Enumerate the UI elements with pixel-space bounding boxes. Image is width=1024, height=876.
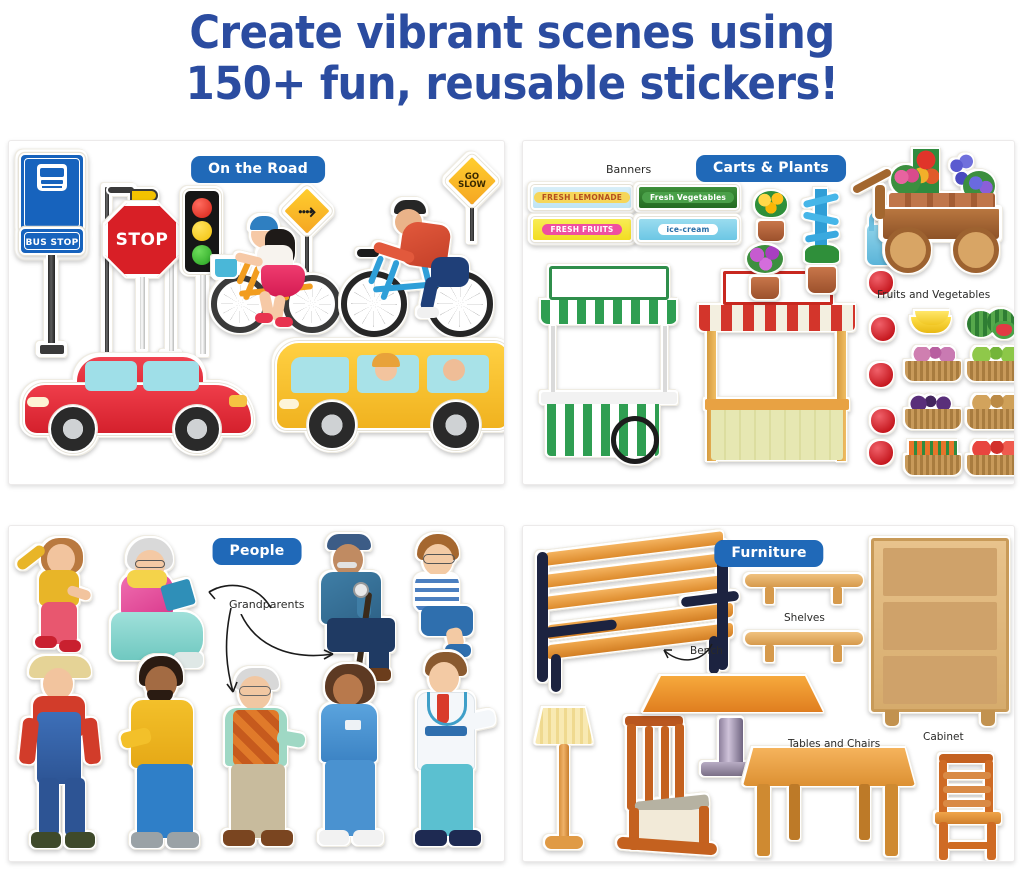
caption-fruits-and-vegetables: Fruits and Vegetables bbox=[877, 289, 990, 301]
page-title: Create vibrant scenes using 150+ fun, re… bbox=[36, 8, 988, 110]
sticker-yellow-van bbox=[275, 341, 505, 461]
sticker-apple-3 bbox=[869, 363, 893, 387]
caption-grandparents: Grandparents bbox=[229, 598, 305, 611]
sticker-man-in-yellow-hoodie bbox=[121, 656, 213, 856]
cart-wheel bbox=[611, 416, 659, 464]
hoodie-man-jeans bbox=[137, 764, 193, 838]
sticker-nurse bbox=[309, 664, 399, 856]
sticker-apple-4 bbox=[871, 409, 895, 433]
sticker-doctor bbox=[403, 652, 499, 856]
sticker-green-market-cart bbox=[535, 266, 683, 466]
name-badge bbox=[345, 720, 361, 730]
product-image: Create vibrant scenes using 150+ fun, re… bbox=[0, 0, 1024, 876]
panel-on-the-road: On the Road BUS STOP bbox=[8, 140, 505, 485]
sticker-basket-of-carrots bbox=[905, 441, 961, 475]
cart-signboard bbox=[549, 266, 669, 300]
panel-furniture: Furniture Shelves Bench Tables and Chair… bbox=[522, 525, 1015, 862]
child-hair-left bbox=[372, 353, 400, 367]
sticker-banner-fresh-vegetables: Fresh Vegetables bbox=[637, 185, 739, 210]
dining-tabletop bbox=[743, 748, 915, 786]
sticker-red-market-stall bbox=[695, 271, 859, 466]
boy-glasses bbox=[423, 554, 455, 564]
panel-title-people: People bbox=[213, 538, 302, 565]
sticker-stop-sign: STOP bbox=[105, 203, 179, 353]
wagon-wheel-right bbox=[953, 227, 999, 273]
wristwatch bbox=[353, 582, 369, 598]
argyle-vest bbox=[233, 710, 279, 766]
headline-line-1: Create vibrant scenes using bbox=[189, 6, 834, 59]
panel-carts-and-plants: Carts & Plants Banners Fruits and Vegeta… bbox=[522, 140, 1015, 485]
sticker-apple-5 bbox=[869, 441, 893, 465]
cart-awning bbox=[541, 300, 677, 324]
sticker-wall-shelf-top bbox=[745, 574, 863, 606]
panel-people: People Grandparents bbox=[8, 525, 505, 862]
sticker-wall-shelf-bottom bbox=[745, 632, 863, 664]
go-slow-label: GOSLOW bbox=[455, 164, 489, 198]
lampshade bbox=[535, 708, 593, 744]
sticker-flower-wagon bbox=[851, 149, 1007, 287]
panel-title-carts-and-plants: Carts & Plants bbox=[696, 155, 846, 182]
moustache bbox=[337, 562, 357, 568]
sticker-yellow-flower-pot bbox=[749, 191, 793, 241]
taillight bbox=[229, 395, 247, 407]
sticker-farmer bbox=[19, 656, 111, 856]
sticker-girl-on-bicycle bbox=[205, 213, 355, 348]
sticker-bookcase-cabinet bbox=[871, 538, 1009, 726]
belt bbox=[425, 726, 467, 736]
scrubs-top bbox=[321, 704, 377, 762]
stall-counter bbox=[711, 410, 843, 460]
arrow-down-to-older-man bbox=[207, 608, 247, 698]
sticker-basket-of-cabbages bbox=[967, 347, 1015, 381]
doctor-trousers bbox=[421, 764, 473, 836]
sticker-basket-of-potatoes bbox=[967, 395, 1015, 429]
sticker-basket-of-grapes bbox=[905, 395, 961, 429]
caption-bench: Bench bbox=[690, 645, 723, 657]
child-face-right bbox=[443, 359, 465, 381]
wagon-wheel-left bbox=[885, 227, 931, 273]
sticker-dining-table bbox=[743, 748, 915, 860]
scrubs-pants bbox=[325, 760, 375, 836]
sticker-blue-flower-pot bbox=[799, 189, 845, 293]
sticker-girl-waving bbox=[15, 532, 101, 657]
panel-title-on-the-road: On the Road bbox=[191, 156, 325, 183]
caption-cabinet: Cabinet bbox=[923, 731, 964, 743]
caption-tables-and-chairs: Tables and Chairs bbox=[788, 738, 880, 750]
sticker-basket-of-tomatoes bbox=[967, 441, 1015, 475]
sticker-watermelons bbox=[967, 307, 1015, 341]
sticker-banner-fresh-lemonade: FRESH LEMONADE bbox=[531, 185, 633, 210]
wagon-handle bbox=[852, 168, 893, 195]
sticker-man-on-bicycle bbox=[339, 199, 499, 349]
sticker-bananas bbox=[909, 309, 955, 339]
bus-stop-label: BUS STOP bbox=[21, 238, 83, 248]
caption-banners: Banners bbox=[606, 163, 651, 176]
panel-title-furniture: Furniture bbox=[714, 540, 823, 567]
table-pedestal bbox=[719, 718, 743, 766]
caption-shelves: Shelves bbox=[784, 612, 825, 624]
headline-line-2: 150+ fun, reusable stickers! bbox=[36, 59, 988, 110]
sticker-wooden-chair bbox=[931, 754, 1007, 862]
glasses bbox=[135, 560, 165, 568]
sticker-floor-lamp bbox=[533, 708, 595, 856]
stall-awning bbox=[699, 305, 855, 331]
sticker-basket-of-onions bbox=[905, 347, 961, 381]
sticker-banner-ice-cream: ice-cream bbox=[637, 217, 739, 242]
sticker-bus-stop-sign: BUS STOP bbox=[19, 153, 85, 353]
overalls bbox=[37, 712, 81, 784]
sticker-banner-fresh-fruits: FRESH FRUITS bbox=[531, 217, 633, 242]
sticker-boy-with-glasses-sitting bbox=[401, 534, 487, 662]
stop-sign-label: STOP bbox=[116, 230, 169, 250]
headlight bbox=[27, 397, 49, 407]
sticker-red-car bbox=[23, 353, 255, 461]
sticker-purple-flower-pot bbox=[741, 245, 789, 299]
sticker-apple-2 bbox=[871, 317, 895, 341]
khaki-trousers bbox=[231, 764, 285, 838]
